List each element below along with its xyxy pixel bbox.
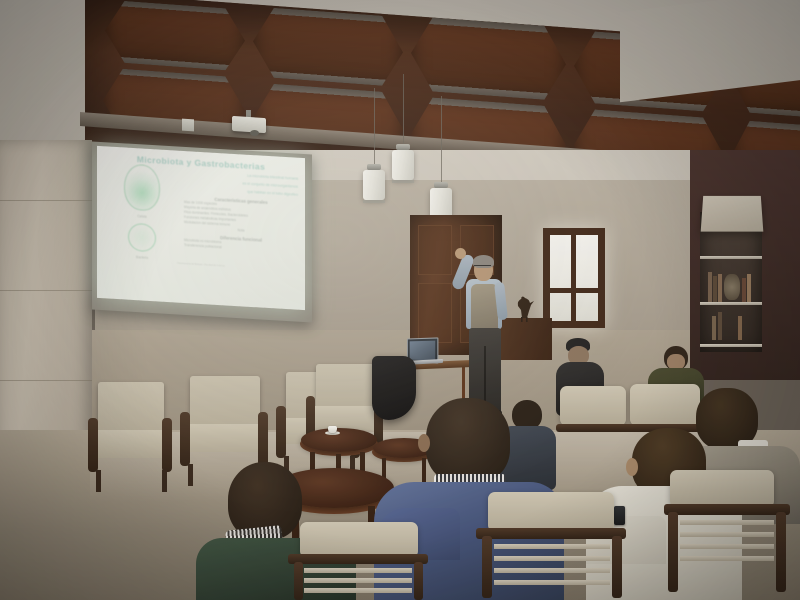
- presentation-slide: Microbiota y Gastrobacterias Celula Bact…: [97, 146, 305, 310]
- built-in-bookshelf: [700, 212, 762, 352]
- presenter-hand: [455, 248, 466, 259]
- audience-ear: [626, 458, 638, 476]
- shelf-ornament: [724, 274, 740, 300]
- cell-diagram: [124, 163, 160, 211]
- conference-room-photo: Microbiota y Gastrobacterias Celula Bact…: [0, 0, 800, 600]
- projection-screen: Microbiota y Gastrobacterias Celula Bact…: [97, 146, 305, 310]
- pendant-lamp-cord: [441, 96, 442, 182]
- wall-sensor: [182, 119, 194, 132]
- slatted-back-sofa[interactable]: [664, 470, 800, 600]
- presenter-vest: [471, 284, 498, 332]
- window-mullion: [571, 228, 576, 328]
- diagram-top-label: Celula: [137, 214, 146, 220]
- trouser-seam: [484, 346, 486, 406]
- pendant-lamp-1: [363, 164, 385, 203]
- presenter: [452, 250, 522, 420]
- slatted-back-sofa[interactable]: [120, 520, 420, 600]
- lamp-shade: [701, 196, 764, 232]
- pendant-lamp-2: [392, 144, 414, 183]
- glasses-icon: [474, 265, 491, 270]
- projector-lens-icon: [250, 130, 259, 136]
- audience-ear: [418, 434, 430, 452]
- beige-armchair[interactable]: [86, 382, 178, 494]
- pendant-lamp-cord: [403, 74, 404, 144]
- bacteria-diagram: [128, 223, 156, 253]
- audience-head: [426, 398, 510, 484]
- coffee-cup[interactable]: [328, 426, 337, 433]
- ceiling-projector: [232, 116, 266, 133]
- window-rail: [543, 288, 605, 293]
- pendant-lamp-cord: [374, 88, 375, 164]
